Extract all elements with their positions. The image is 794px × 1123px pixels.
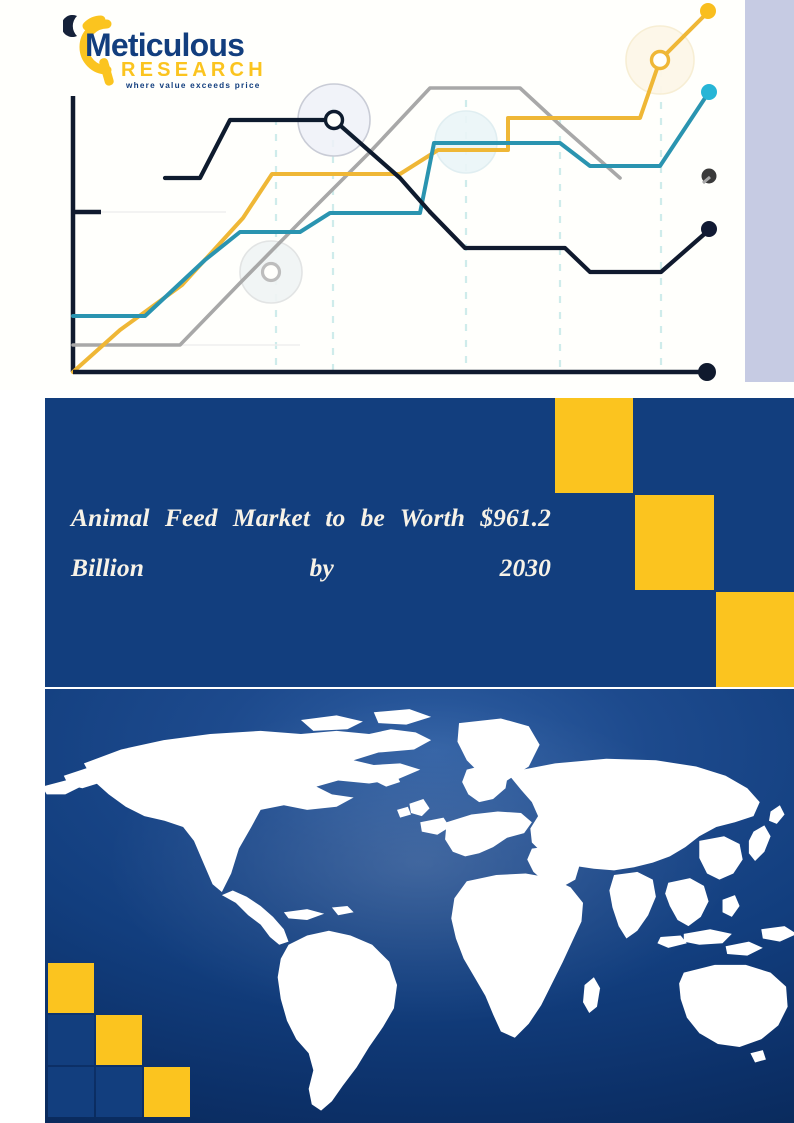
stair-cell-r2c2 — [144, 1067, 190, 1117]
chart-node-yellow — [652, 52, 669, 69]
stair-cell-r2c0 — [48, 1067, 94, 1117]
chart-endpoint-navy — [701, 221, 717, 237]
chart-node-navy — [326, 112, 343, 129]
stair-cell-r1c0 — [48, 1015, 94, 1065]
logo-word-secondary: RESEARCH — [121, 59, 267, 81]
chart-node-grey — [263, 264, 280, 281]
meticulous-research-logo[interactable]: Meticulous RESEARCH where value exceeds … — [63, 12, 295, 94]
stair-cell-r2c1 — [96, 1067, 142, 1117]
checker-cell-4 — [635, 495, 713, 590]
stair-cell-r1c1 — [96, 1015, 142, 1065]
chart-series-navy-upper — [165, 120, 430, 212]
chart-endpoint-teal — [701, 84, 717, 100]
logo-crescent-icon — [63, 15, 77, 37]
press-release-cover: Meticulous RESEARCH where value exceeds … — [0, 0, 794, 1123]
checker-cell-2 — [716, 398, 794, 493]
page-title: Animal Feed Market to be Worth $961.2 Bi… — [71, 493, 551, 643]
checker-cell-5 — [716, 495, 794, 590]
checker-cell-7 — [635, 592, 713, 687]
staircase-squares — [48, 963, 196, 1123]
chart-series-teal — [73, 92, 709, 316]
checker-cell-1 — [635, 398, 713, 493]
checker-cell-0 — [555, 398, 633, 493]
logo-word-primary: Meticulous — [85, 27, 244, 63]
stair-cell-r0c0 — [48, 963, 94, 1013]
chart-endpoint-yellow — [700, 3, 716, 19]
hero-chart-banner: Meticulous RESEARCH where value exceeds … — [0, 0, 794, 390]
headline-band: Animal Feed Market to be Worth $961.2 Bi… — [45, 398, 794, 687]
logo-tagline: where value exceeds price — [125, 81, 261, 90]
checker-cell-6 — [555, 592, 633, 687]
checker-cell-8 — [716, 592, 794, 687]
checker-grid-3x3 — [555, 398, 794, 687]
checker-cell-3 — [555, 495, 633, 590]
chart-series-navy-lower — [430, 212, 709, 272]
chart-endpoint-baseline — [698, 363, 716, 381]
